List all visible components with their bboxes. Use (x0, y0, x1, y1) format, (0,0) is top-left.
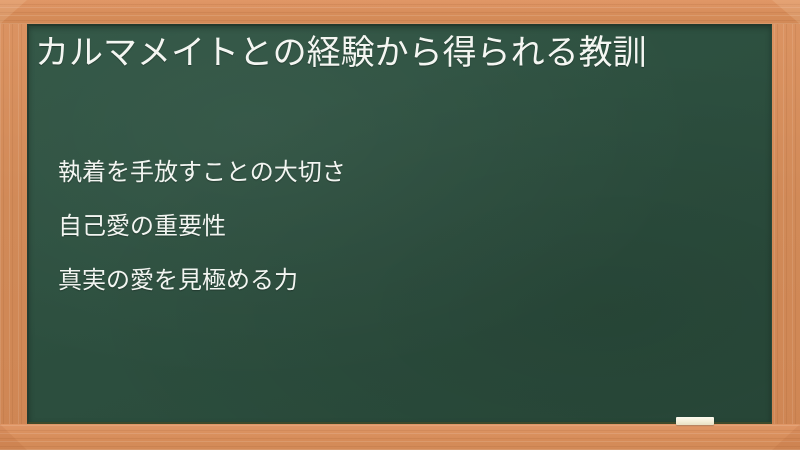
chalk-stick-icon (676, 417, 714, 425)
chalkboard-surface: カルマメイトとの経験から得られる教訓 執着を手放すことの大切さ 自己愛の重要性 … (27, 24, 772, 424)
frame-miter-top-left (0, 0, 27, 24)
lesson-list: 執着を手放すことの大切さ 自己愛の重要性 真実の愛を見極める力 (58, 157, 718, 295)
frame-rail-bottom (0, 424, 800, 450)
slide-title: カルマメイトとの経験から得られる教訓 (35, 30, 735, 76)
list-item: 自己愛の重要性 (58, 211, 718, 241)
frame-rail-top (0, 0, 800, 24)
chalkboard-slide: カルマメイトとの経験から得られる教訓 執着を手放すことの大切さ 自己愛の重要性 … (0, 0, 800, 450)
list-item: 執着を手放すことの大切さ (58, 157, 718, 187)
frame-miter-bottom-left (0, 424, 27, 450)
chalkboard-content: カルマメイトとの経験から得られる教訓 執着を手放すことの大切さ 自己愛の重要性 … (29, 26, 771, 422)
list-item: 真実の愛を見極める力 (58, 265, 718, 295)
frame-miter-top-right (772, 0, 800, 24)
frame-miter-bottom-right (772, 424, 800, 450)
